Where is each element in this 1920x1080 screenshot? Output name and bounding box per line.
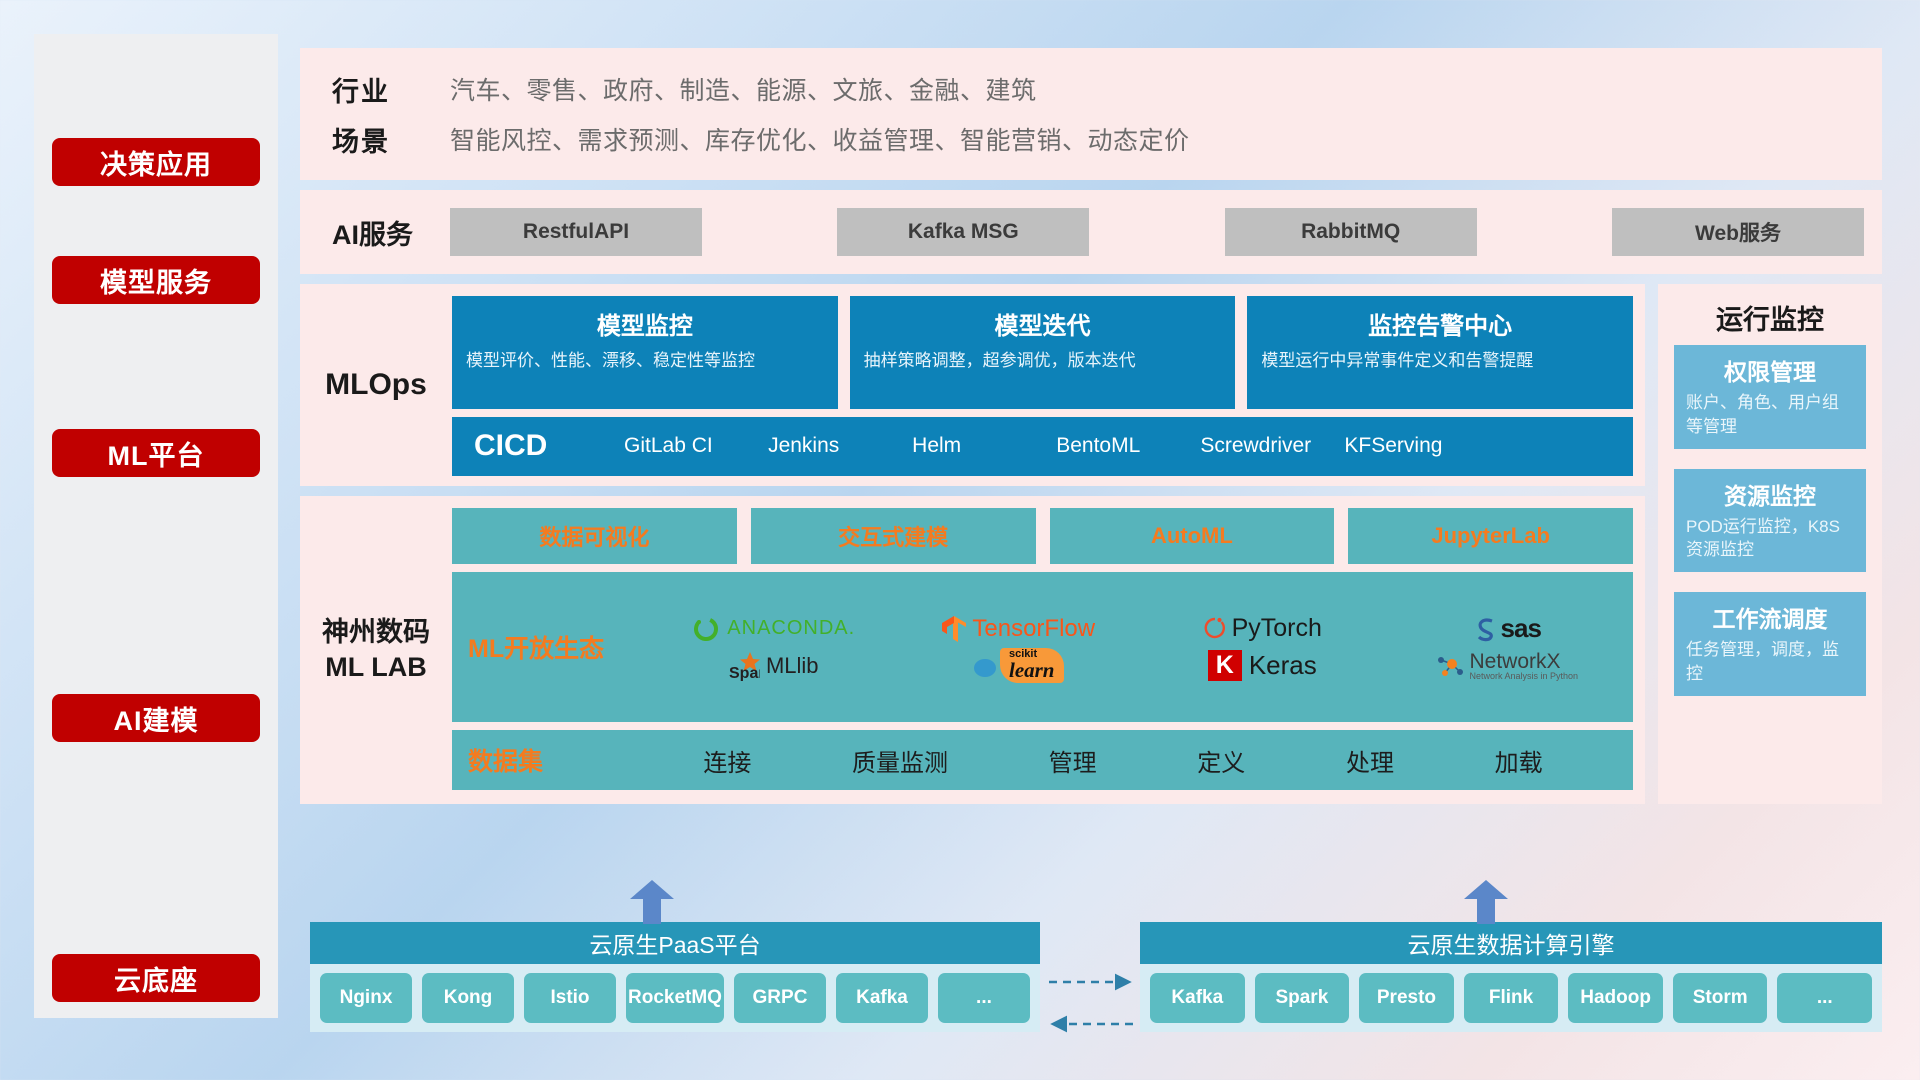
cloud-chip-more[interactable]: ...: [938, 973, 1030, 1023]
ai-service-key: AI服务: [332, 213, 450, 252]
ai-service-band: AI服务 RestfulAPI Kafka MSG RabbitMQ Web服务: [300, 190, 1882, 274]
spark-mllib-logo: Spark MLlib: [728, 651, 819, 681]
rail-item-cloud-base[interactable]: 云底座: [52, 954, 260, 1002]
ml-lab-tool-interactive-modeling[interactable]: 交互式建模: [751, 508, 1036, 564]
card-desc: 模型运行中异常事件定义和告警提醒: [1261, 349, 1619, 374]
rail-label: AI建模: [114, 699, 199, 738]
mlops-key: MLOps: [300, 284, 452, 486]
sas-wordmark: sas: [1501, 613, 1541, 644]
card-title: 工作流调度: [1686, 600, 1854, 634]
industry-key: 行业: [332, 70, 450, 109]
ml-lab-key-line2: ML LAB: [322, 650, 430, 685]
cloud-compute-group: 云原生数据计算引擎 Kafka Spark Presto Flink Hadoo…: [1140, 922, 1882, 1032]
cloud-paas-chip-list: Nginx Kong Istio RocketMQ GRPC Kafka ...: [310, 964, 1040, 1032]
card-desc: 模型评价、性能、漂移、稳定性等监控: [466, 349, 824, 374]
cicd-title: CICD: [474, 429, 624, 463]
tensorflow-logo: TensorFlow: [940, 614, 1095, 644]
pytorch-logo: PyTorch: [1203, 614, 1322, 643]
cloud-chip-presto[interactable]: Presto: [1359, 973, 1454, 1023]
networkx-tagline: Network Analysis in Python: [1469, 672, 1578, 681]
cloud-chip-nginx[interactable]: Nginx: [320, 973, 412, 1023]
cloud-chip-rocketmq[interactable]: RocketMQ: [626, 973, 724, 1023]
card-title: 权限管理: [1686, 353, 1854, 387]
networkx-wordmark: NetworkX: [1469, 651, 1578, 672]
cloud-chip-grpc[interactable]: GRPC: [734, 973, 826, 1023]
cicd-item-gitlab-ci[interactable]: GitLab CI: [624, 435, 768, 457]
ml-lab-key: 神州数码 ML LAB: [300, 496, 452, 804]
scenario-value: 智能风控、需求预测、库存优化、收益管理、智能营销、动态定价: [450, 121, 1190, 157]
cloud-chip-kafka[interactable]: Kafka: [1150, 973, 1245, 1023]
cicd-item-screwdriver[interactable]: Screwdriver: [1200, 435, 1344, 457]
dataset-item-manage[interactable]: 管理: [1049, 743, 1097, 778]
dataset-item-connect[interactable]: 连接: [703, 743, 751, 778]
cloud-chip-flink[interactable]: Flink: [1464, 973, 1559, 1023]
mlops-card-model-monitoring[interactable]: 模型监控 模型评价、性能、漂移、稳定性等监控: [452, 296, 838, 409]
monitoring-title: 运行监控: [1658, 284, 1882, 345]
cicd-item-helm[interactable]: Helm: [912, 435, 1056, 457]
ml-lab-tool-data-visualization[interactable]: 数据可视化: [452, 508, 737, 564]
cloud-chip-istio[interactable]: Istio: [524, 973, 616, 1023]
mlops-card-model-iteration[interactable]: 模型迭代 抽样策略调整，超参调优，版本迭代: [850, 296, 1236, 409]
ai-service-box-restfulapi[interactable]: RestfulAPI: [450, 208, 702, 256]
rail-label: 模型服务: [100, 261, 212, 300]
rail-label: 决策应用: [100, 143, 212, 182]
cloud-base-section: 云原生PaaS平台 Nginx Kong Istio RocketMQ GRPC…: [300, 892, 1882, 1080]
card-desc: 账户、角色、用户组等管理: [1686, 391, 1854, 439]
anaconda-wordmark: ANACONDA.: [727, 617, 855, 640]
cloud-chip-more[interactable]: ...: [1777, 973, 1872, 1023]
mlops-card-alert-center[interactable]: 监控告警中心 模型运行中异常事件定义和告警提醒: [1247, 296, 1633, 409]
ml-ecosystem-label: ML开放生态: [468, 629, 653, 665]
dataset-item-load[interactable]: 加载: [1495, 743, 1543, 778]
dataset-item-list: 连接 质量监测 管理 定义 处理 加载: [653, 743, 1633, 778]
keras-logo: K Keras: [1208, 650, 1317, 681]
monitoring-column: 运行监控 权限管理 账户、角色、用户组等管理 资源监控 POD运行监控，K8S资…: [1658, 284, 1882, 804]
up-arrow-icon: [628, 880, 676, 924]
cloud-chip-kafka[interactable]: Kafka: [836, 973, 928, 1023]
cicd-item-list: GitLab CI Jenkins Helm BentoML Screwdriv…: [624, 435, 1633, 457]
ml-lab-tool-list: 数据可视化 交互式建模 AutoML JupyterLab: [452, 508, 1633, 564]
ai-service-box-web-service[interactable]: Web服务: [1612, 208, 1864, 256]
networkx-logo: NetworkX Network Analysis in Python: [1435, 651, 1578, 681]
rail-item-decision-apps[interactable]: 决策应用: [52, 138, 260, 186]
cloud-chip-spark[interactable]: Spark: [1255, 973, 1350, 1023]
cicd-bar: CICD GitLab CI Jenkins Helm BentoML Scre…: [452, 417, 1633, 476]
ai-service-box-kafka-msg[interactable]: Kafka MSG: [837, 208, 1089, 256]
ml-lab-band: 神州数码 ML LAB 数据可视化 交互式建模 AutoML JupyterLa…: [300, 496, 1645, 804]
card-desc: 抽样策略调整，超参调优，版本迭代: [864, 349, 1222, 374]
cloud-chip-storm[interactable]: Storm: [1673, 973, 1768, 1023]
industry-row: 行业 汽车、零售、政府、制造、能源、文旅、金融、建筑: [300, 64, 1882, 114]
card-title: 模型监控: [466, 306, 824, 341]
ml-ecosystem-logo-grid: ANACONDA. TensorFlow PyTorch: [653, 611, 1627, 683]
monitoring-card-workflow[interactable]: 工作流调度 任务管理，调度，监控: [1674, 592, 1866, 696]
cicd-item-kfserving[interactable]: KFServing: [1344, 435, 1488, 457]
up-arrow-icon: [1462, 880, 1510, 924]
monitoring-card-permissions[interactable]: 权限管理 账户、角色、用户组等管理: [1674, 345, 1866, 449]
cloud-chip-kong[interactable]: Kong: [422, 973, 514, 1023]
rail-item-model-service[interactable]: 模型服务: [52, 256, 260, 304]
rail-item-ai-modeling[interactable]: AI建模: [52, 694, 260, 742]
scenario-row: 场景 智能风控、需求预测、库存优化、收益管理、智能营销、动态定价: [300, 114, 1882, 164]
rail-label: 云底座: [114, 959, 198, 998]
rail-label: ML平台: [108, 434, 205, 473]
anaconda-logo: ANACONDA.: [691, 614, 855, 644]
bidirectional-dashed-connector: [1045, 970, 1137, 1042]
monitoring-card-resources[interactable]: 资源监控 POD运行监控，K8S资源监控: [1674, 469, 1866, 573]
ai-service-box-rabbitmq[interactable]: RabbitMQ: [1225, 208, 1477, 256]
mlops-band: MLOps 模型监控 模型评价、性能、漂移、稳定性等监控 模型迭代 抽样策略调整…: [300, 284, 1645, 486]
ml-lab-tool-jupyterlab[interactable]: JupyterLab: [1348, 508, 1633, 564]
scenario-key: 场景: [332, 120, 450, 159]
card-title: 模型迭代: [864, 306, 1222, 341]
scikit-learn-logo: scikit learn: [972, 648, 1064, 683]
cloud-paas-title: 云原生PaaS平台: [310, 922, 1040, 964]
ml-lab-key-line1: 神州数码: [322, 615, 430, 650]
dataset-row: 数据集 连接 质量监测 管理 定义 处理 加载: [452, 730, 1633, 790]
cloud-chip-hadoop[interactable]: Hadoop: [1568, 973, 1663, 1023]
mlops-card-list: 模型监控 模型评价、性能、漂移、稳定性等监控 模型迭代 抽样策略调整，超参调优，…: [452, 296, 1633, 409]
pytorch-wordmark: PyTorch: [1232, 614, 1322, 643]
sas-logo: sas: [1473, 613, 1541, 644]
mllib-wordmark: MLlib: [766, 653, 819, 679]
left-rail: 决策应用 模型服务 ML平台 AI建模 云底座: [34, 34, 278, 1018]
cloud-compute-chip-list: Kafka Spark Presto Flink Hadoop Storm ..…: [1140, 964, 1882, 1032]
dataset-item-process[interactable]: 处理: [1346, 743, 1394, 778]
industry-value: 汽车、零售、政府、制造、能源、文旅、金融、建筑: [450, 71, 1037, 107]
dataset-item-define[interactable]: 定义: [1197, 743, 1245, 778]
ml-lab-tool-automl[interactable]: AutoML: [1050, 508, 1335, 564]
svg-text:Spark: Spark: [729, 665, 760, 681]
card-desc: 任务管理，调度，监控: [1686, 638, 1854, 686]
ml-ecosystem-row: ML开放生态 ANACONDA. TensorFlow: [452, 572, 1633, 722]
cloud-compute-title: 云原生数据计算引擎: [1140, 922, 1882, 964]
card-title: 资源监控: [1686, 477, 1854, 511]
cloud-paas-group: 云原生PaaS平台 Nginx Kong Istio RocketMQ GRPC…: [310, 922, 1040, 1032]
tensorflow-wordmark: TensorFlow: [972, 615, 1095, 643]
keras-wordmark: Keras: [1249, 650, 1317, 681]
dataset-item-quality[interactable]: 质量监测: [852, 743, 948, 778]
rail-item-ml-platform[interactable]: ML平台: [52, 429, 260, 477]
cicd-item-bentoml[interactable]: BentoML: [1056, 435, 1200, 457]
ai-service-box-list: RestfulAPI Kafka MSG RabbitMQ Web服务: [450, 208, 1882, 256]
applications-band: 行业 汽车、零售、政府、制造、能源、文旅、金融、建筑 场景 智能风控、需求预测、…: [300, 48, 1882, 180]
dataset-label: 数据集: [468, 742, 653, 778]
cicd-item-jenkins[interactable]: Jenkins: [768, 435, 912, 457]
card-title: 监控告警中心: [1261, 306, 1619, 341]
card-desc: POD运行监控，K8S资源监控: [1686, 515, 1854, 563]
